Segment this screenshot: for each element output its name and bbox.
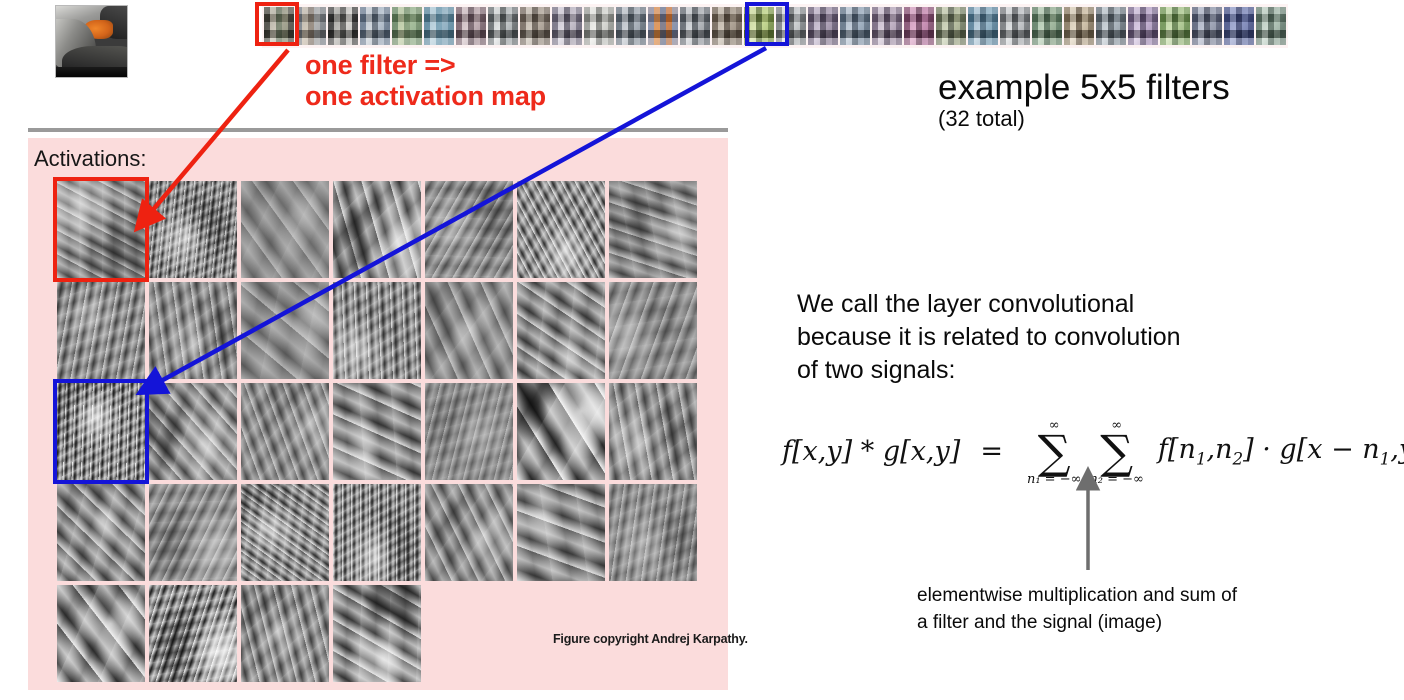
formula-lhs: f[x,y] * g[x,y] xyxy=(782,436,960,467)
activation-tile[interactable] xyxy=(333,484,421,581)
filter-tile-noise xyxy=(296,7,326,45)
sum2-sigma: ∑ xyxy=(1100,431,1133,473)
filter-tile[interactable] xyxy=(392,7,422,45)
filter-tile-noise xyxy=(1064,7,1094,45)
activation-tile[interactable] xyxy=(241,383,329,480)
filter-tile[interactable] xyxy=(360,7,390,45)
summation-n2: ∞ ∑ n₂ = −∞ xyxy=(1089,420,1143,486)
activation-highlight-box-blue xyxy=(53,379,149,484)
activation-tile[interactable] xyxy=(333,282,421,379)
activation-tile[interactable] xyxy=(57,282,145,379)
activation-tile[interactable] xyxy=(241,181,329,278)
formula-equals: = xyxy=(980,436,1003,467)
activation-tile[interactable] xyxy=(149,484,237,581)
filter-tile[interactable] xyxy=(1128,7,1158,45)
activation-tile[interactable] xyxy=(241,484,329,581)
filter-tile-noise xyxy=(392,7,422,45)
activation-tile[interactable] xyxy=(241,585,329,682)
activation-tile[interactable] xyxy=(57,585,145,682)
activation-tile[interactable] xyxy=(609,484,697,581)
filter-tile-noise xyxy=(552,7,582,45)
activation-tile[interactable] xyxy=(333,181,421,278)
filter-tile-noise xyxy=(840,7,870,45)
activation-tile[interactable] xyxy=(425,282,513,379)
filter-tile-noise xyxy=(648,7,678,45)
filter-tile-noise xyxy=(1000,7,1030,45)
activation-tile[interactable] xyxy=(609,282,697,379)
filter-tile-noise xyxy=(872,7,902,45)
filter-tile[interactable] xyxy=(840,7,870,45)
figure-credit: Figure copyright Andrej Karpathy. xyxy=(553,632,748,646)
filter-tile[interactable] xyxy=(1256,7,1286,45)
filter-tile[interactable] xyxy=(616,7,646,45)
filter-tile-noise xyxy=(1128,7,1158,45)
activation-tile[interactable] xyxy=(425,484,513,581)
filter-tile-noise xyxy=(936,7,966,45)
filter-tile-noise xyxy=(616,7,646,45)
filter-tile[interactable] xyxy=(1064,7,1094,45)
activation-tile[interactable] xyxy=(517,484,605,581)
filter-highlight-box-blue xyxy=(745,2,789,46)
filter-tile-noise xyxy=(424,7,454,45)
filter-tile[interactable] xyxy=(456,7,486,45)
filter-tile[interactable] xyxy=(1032,7,1062,45)
filter-tile[interactable] xyxy=(1224,7,1254,45)
activation-tile[interactable] xyxy=(517,383,605,480)
filter-tile[interactable] xyxy=(520,7,550,45)
input-image-thumbnail xyxy=(55,5,128,78)
filter-tile-noise xyxy=(488,7,518,45)
filter-tile-noise xyxy=(328,7,358,45)
filter-tile-noise xyxy=(904,7,934,45)
activation-tile[interactable] xyxy=(425,383,513,480)
summation-n1: ∞ ∑ n₁ = −∞ xyxy=(1027,420,1081,486)
filter-tile[interactable] xyxy=(936,7,966,45)
sum2-lower-limit: n₂ = −∞ xyxy=(1089,473,1143,486)
filter-tile-noise xyxy=(584,7,614,45)
filter-tile-noise xyxy=(968,7,998,45)
filter-tile[interactable] xyxy=(904,7,934,45)
activation-tile[interactable] xyxy=(149,282,237,379)
filters-subtitle: (32 total) xyxy=(938,106,1025,132)
activations-grid xyxy=(57,181,709,682)
activation-tile[interactable] xyxy=(149,383,237,480)
filter-tile-noise xyxy=(1256,7,1286,45)
filter-tile[interactable] xyxy=(424,7,454,45)
activation-tile[interactable] xyxy=(149,585,237,682)
filter-tile-noise xyxy=(456,7,486,45)
sum1-lower-limit: n₁ = −∞ xyxy=(1027,473,1081,486)
body-paragraph: We call the layer convolutional because … xyxy=(797,288,1181,387)
activation-tile[interactable] xyxy=(517,282,605,379)
filter-tile-noise xyxy=(360,7,390,45)
sum1-sigma: ∑ xyxy=(1038,431,1071,473)
formula-rhs: f[n1,n2] · g[x − n1,y − n2] xyxy=(1158,434,1404,468)
filter-tile-noise xyxy=(1032,7,1062,45)
filter-tile[interactable] xyxy=(552,7,582,45)
filter-tile-noise xyxy=(1192,7,1222,45)
filter-tile[interactable] xyxy=(1160,7,1190,45)
filter-tile[interactable] xyxy=(296,7,326,45)
filter-tile[interactable] xyxy=(1192,7,1222,45)
filter-tile[interactable] xyxy=(712,7,742,45)
activation-tile[interactable] xyxy=(333,383,421,480)
activations-label: Activations: xyxy=(34,146,147,172)
activation-tile[interactable] xyxy=(609,181,697,278)
filter-tile[interactable] xyxy=(1000,7,1030,45)
filter-tile-noise xyxy=(1224,7,1254,45)
filter-tile-noise xyxy=(808,7,838,45)
activation-tile[interactable] xyxy=(241,282,329,379)
red-callout-text: one filter => one activation map xyxy=(305,50,546,112)
filter-tile-noise xyxy=(1160,7,1190,45)
filter-tile[interactable] xyxy=(872,7,902,45)
filter-tile[interactable] xyxy=(680,7,710,45)
activation-tile[interactable] xyxy=(609,383,697,480)
activation-tile[interactable] xyxy=(57,484,145,581)
filter-tile-noise xyxy=(520,7,550,45)
filter-highlight-box-red xyxy=(255,2,299,46)
filter-tile-noise xyxy=(1096,7,1126,45)
filter-tile[interactable] xyxy=(1096,7,1126,45)
filter-tile[interactable] xyxy=(648,7,678,45)
activation-tile[interactable] xyxy=(149,181,237,278)
input-image-shadow xyxy=(56,67,127,77)
activation-tile[interactable] xyxy=(425,181,513,278)
filter-tile[interactable] xyxy=(584,7,614,45)
activation-tile[interactable] xyxy=(333,585,421,682)
filter-tile[interactable] xyxy=(328,7,358,45)
activation-tile[interactable] xyxy=(517,181,605,278)
filters-title: example 5x5 filters xyxy=(938,68,1230,108)
filter-tile-noise xyxy=(680,7,710,45)
panel-divider xyxy=(28,128,728,132)
arrow-caption: elementwise multiplication and sum of a … xyxy=(917,582,1237,636)
filter-tile[interactable] xyxy=(488,7,518,45)
filter-tile[interactable] xyxy=(968,7,998,45)
filter-tile-noise xyxy=(712,7,742,45)
filter-tile[interactable] xyxy=(808,7,838,45)
convolution-formula: f[x,y] * g[x,y] = ∞ ∑ n₁ = −∞ ∞ ∑ n₂ = −… xyxy=(782,418,1404,484)
activation-highlight-box-red xyxy=(53,177,149,282)
